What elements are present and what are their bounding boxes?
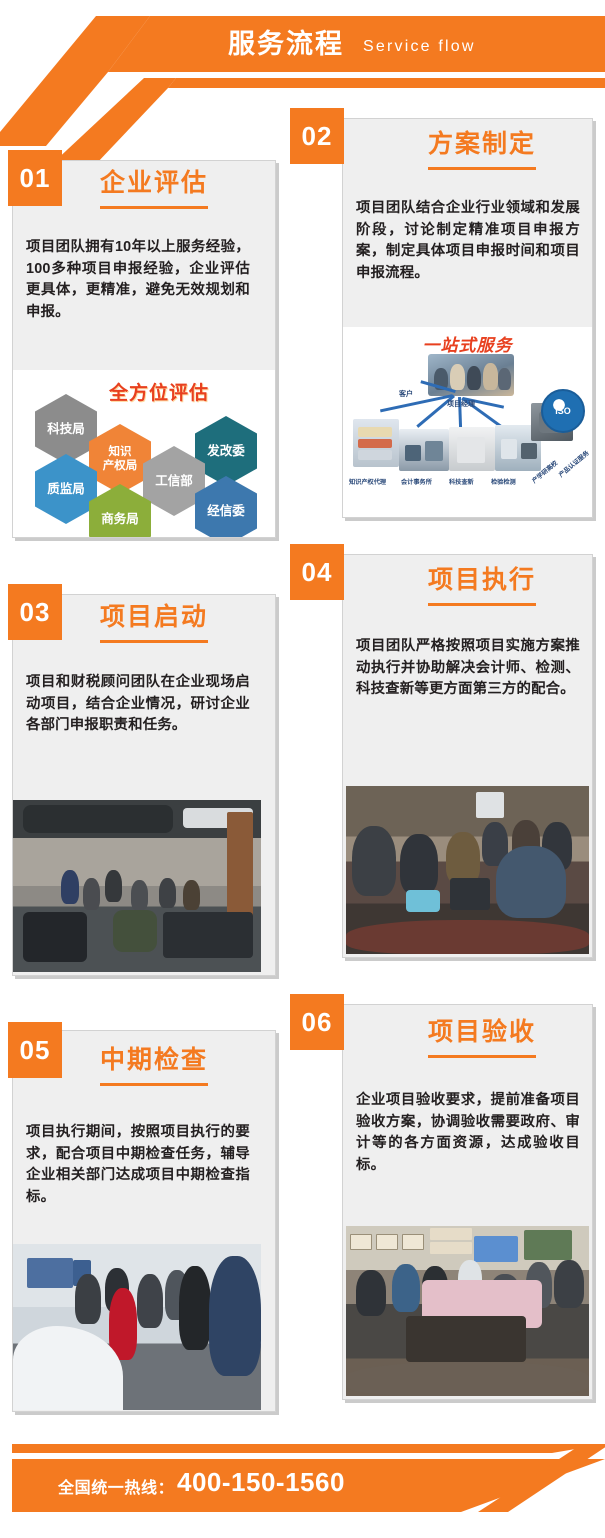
one-stop-caption-accounting: 会计事务所 [401, 477, 432, 486]
card-05-photo-scene [13, 1244, 261, 1410]
one-stop-title: 一站式服务 [343, 331, 592, 356]
one-stop-node-search [449, 427, 495, 471]
card-04-body: 项目团队严格按照项目实施方案推动执行并协助解决会计师、检测、科技查新等更方面第三… [356, 636, 580, 701]
page-subtitle: Service flow [363, 33, 476, 61]
card-01-number-badge: 01 [8, 150, 62, 206]
card-03-photo [13, 800, 261, 972]
card-04-title: 项目执行 [428, 560, 536, 606]
hex-node-keji: 科技局 [35, 394, 97, 464]
one-stop-label-manager: 项目经理 [447, 399, 475, 409]
card-02-one-stop-diagram: 一站式服务 客户 项目经理 ISO 知识产权代理 会计事务所 科技查新 检验检测 [343, 327, 592, 517]
page-title: 服务流程 [228, 23, 344, 65]
card-06-body: 企业项目验收要求，提前准备项目验收方案，协调验收需要政府、审计等的各方面资源，达… [356, 1090, 580, 1176]
card-03-title: 项目启动 [100, 597, 208, 643]
page-footer: 全国统一热线： 400-150-1560 [0, 1426, 605, 1538]
card-05-photo [13, 1244, 261, 1410]
one-stop-node-ip [353, 419, 399, 467]
card-05-title: 中期检查 [100, 1040, 208, 1086]
footer-thin-stripe [12, 1444, 605, 1453]
card-01-body: 项目团队拥有10年以上服务经验，100多种项目申报经验，企业评估更具体，更精准，… [26, 237, 250, 323]
card-05-number-badge: 05 [8, 1022, 62, 1078]
one-stop-caption-certification: 产品认证服务 [556, 448, 590, 479]
one-stop-label-customer: 客户 [399, 389, 413, 399]
card-03-number-badge: 03 [8, 584, 62, 640]
card-04-photo-scene [346, 786, 589, 954]
card-02-body: 项目团队结合企业行业领域和发展阶段，讨论制定精准项目申报方案，制定具体项目申报时… [356, 198, 580, 284]
hex-node-zhishi: 知识产权局 [89, 424, 151, 494]
one-stop-caption-testing: 检验检测 [491, 477, 516, 486]
card-02-number-badge: 02 [290, 108, 344, 164]
card-06-title: 项目验收 [428, 1012, 536, 1058]
one-stop-caption-ip: 知识产权代理 [349, 477, 386, 486]
card-01-hex-diagram: 全方位评估 科技局 知识产权局 发改委 质监局 工信部 商务局 经信委 [13, 370, 275, 537]
hex-node-zhijian: 质监局 [35, 454, 97, 524]
one-stop-caption-search: 科技查新 [449, 477, 474, 486]
card-05-body: 项目执行期间，按照项目执行的要求，配合项目中期检查任务，辅导企业相关部门达成项目… [26, 1122, 250, 1208]
one-stop-certification-seal: ISO [541, 389, 585, 433]
hex-diagram-title: 全方位评估 [109, 378, 209, 405]
card-06-photo [346, 1226, 589, 1396]
hotline-number[interactable]: 400-150-1560 [177, 1467, 345, 1498]
page-header: 服务流程 Service flow [0, 0, 605, 112]
card-02-title: 方案制定 [428, 124, 536, 170]
card-04-photo [346, 786, 589, 954]
hotline-label: 全国统一热线： [58, 1474, 174, 1498]
card-01-title: 企业评估 [100, 163, 208, 209]
one-stop-hub-image [428, 354, 514, 396]
card-04-number-badge: 04 [290, 544, 344, 600]
card-06-number-badge: 06 [290, 994, 344, 1050]
hex-node-shangwu: 商务局 [89, 484, 151, 537]
card-03-body: 项目和财税顾问团队在企业现场启动项目，结合企业情况，研讨企业各部门申报职责和任务… [26, 672, 250, 737]
card-06-photo-scene [346, 1226, 589, 1396]
one-stop-node-accounting [399, 429, 449, 471]
card-03-photo-scene [13, 800, 261, 972]
